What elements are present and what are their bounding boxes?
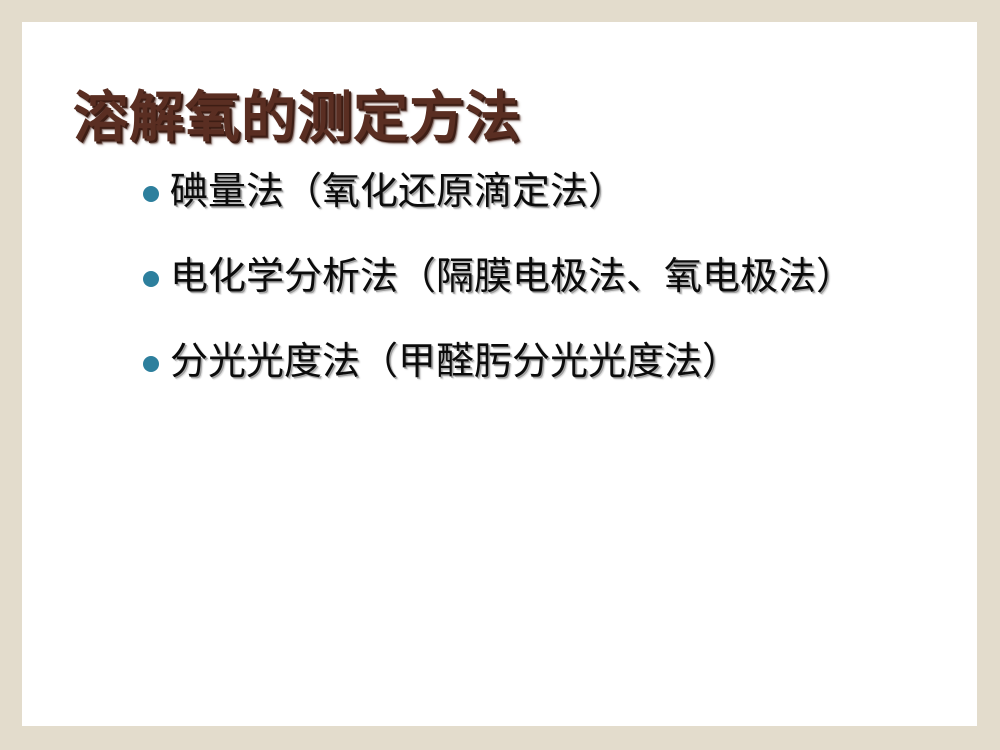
- slide-frame: 溶解氧的测定方法 碘量法（氧化还原滴定法） 电化学分析法（隔膜电极法、氧电极法）…: [0, 0, 1000, 750]
- list-item: 碘量法（氧化还原滴定法）: [22, 172, 977, 257]
- bullet-list: 碘量法（氧化还原滴定法） 电化学分析法（隔膜电极法、氧电极法） 分光光度法（甲醛…: [22, 172, 977, 427]
- list-item-label: 电化学分析法（隔膜电极法、氧电极法）: [170, 257, 854, 295]
- bullet-dot-icon: [143, 271, 159, 287]
- list-item: 电化学分析法（隔膜电极法、氧电极法）: [22, 257, 977, 342]
- page-title: 溶解氧的测定方法: [73, 87, 521, 148]
- list-item-label: 碘量法（氧化还原滴定法）: [170, 172, 626, 210]
- list-item: 分光光度法（甲醛肟分光光度法）: [22, 342, 977, 427]
- bullet-dot-icon: [143, 186, 159, 202]
- slide-canvas: 溶解氧的测定方法 碘量法（氧化还原滴定法） 电化学分析法（隔膜电极法、氧电极法）…: [22, 22, 977, 726]
- bullet-dot-icon: [143, 356, 159, 372]
- list-item-label: 分光光度法（甲醛肟分光光度法）: [170, 342, 740, 380]
